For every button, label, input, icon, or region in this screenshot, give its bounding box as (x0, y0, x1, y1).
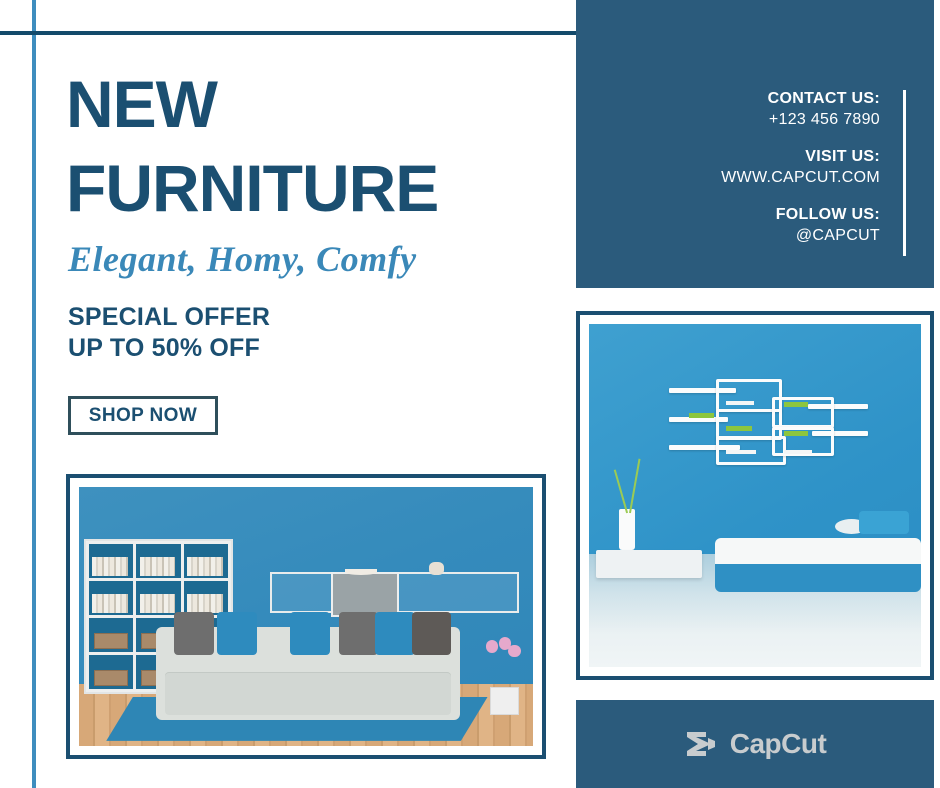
contact-label-social: FOLLOW US: (721, 204, 880, 225)
living-room-photo (79, 487, 533, 746)
offer-line-2: UP TO 50% OFF (68, 333, 270, 364)
contact-group-website: VISIT US: WWW.CAPCUT.COM (721, 146, 880, 188)
contact-label-phone: CONTACT US: (721, 88, 880, 109)
lr-wall-shelf (270, 572, 520, 612)
contact-divider-rule (903, 90, 906, 256)
lr-orchid-plant (483, 637, 524, 715)
bedroom-image-frame (576, 311, 934, 680)
contact-list: CONTACT US: +123 456 7890 VISIT US: WWW.… (721, 88, 880, 246)
contact-group-phone: CONTACT US: +123 456 7890 (721, 88, 880, 130)
contact-value-social[interactable]: @CAPCUT (721, 225, 880, 246)
bd-wall-shelving (669, 372, 868, 461)
contact-panel: CONTACT US: +123 456 7890 VISIT US: WWW.… (576, 0, 934, 288)
contact-label-website: VISIT US: (721, 146, 880, 167)
shop-now-button[interactable]: SHOP NOW (68, 396, 218, 435)
accent-vertical-rule (32, 0, 36, 788)
living-room-image-frame (66, 474, 546, 759)
contact-group-social: FOLLOW US: @CAPCUT (721, 204, 880, 246)
offer-block: SPECIAL OFFER UP TO 50% OFF (68, 302, 270, 364)
tagline: Elegant, Homy, Comfy (68, 238, 417, 280)
bd-low-table (596, 550, 702, 577)
capcut-hourglass-icon (684, 729, 718, 759)
page-title: NEW FURNITURE (66, 62, 566, 230)
headline-line-1: NEW (66, 62, 566, 146)
capcut-wordmark: CapCut (730, 728, 827, 760)
bd-daybed (715, 523, 921, 592)
capcut-logo-bar: CapCut (576, 700, 934, 788)
bd-vase (619, 509, 636, 550)
contact-value-phone[interactable]: +123 456 7890 (721, 109, 880, 130)
headline-line-2: FURNITURE (66, 146, 566, 230)
offer-line-1: SPECIAL OFFER (68, 302, 270, 333)
lr-sofa (156, 627, 460, 720)
contact-value-website[interactable]: WWW.CAPCUT.COM (721, 167, 880, 188)
bedroom-photo (589, 324, 921, 667)
poster-canvas: CONTACT US: +123 456 7890 VISIT US: WWW.… (0, 0, 940, 788)
